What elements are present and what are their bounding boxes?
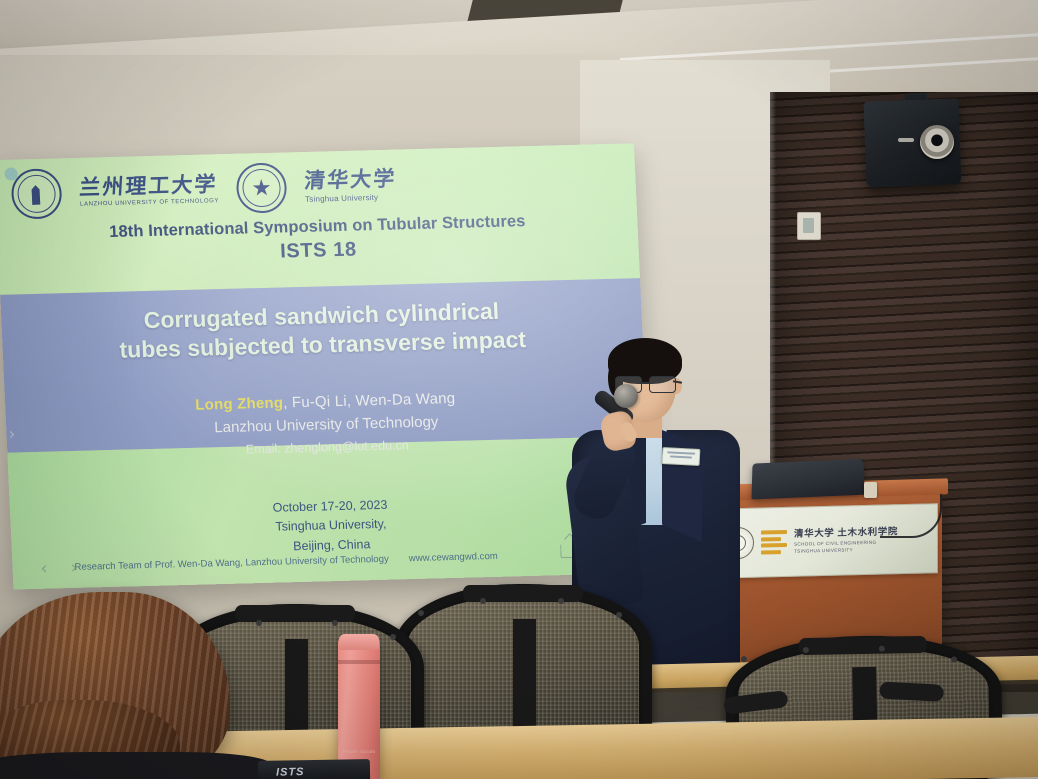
slide-nav-left-edge-icon[interactable]: ›	[8, 424, 16, 444]
lanzhou-chinese-name: 兰州理工大学	[79, 174, 219, 199]
device-on-table[interactable]: ISTS	[258, 759, 370, 779]
tsinghua-chinese-name: 清华大学	[304, 168, 397, 191]
thermos-label: Proper Goods	[342, 748, 376, 756]
conference-photo-scene: 兰州理工大学 LANZHOU UNIVERSITY OF TECHNOLOGY …	[0, 0, 1038, 779]
presenting-author-name: Long Zheng	[195, 394, 284, 413]
lanzhou-university-seal-icon	[10, 168, 62, 219]
thermos-seam-ring	[338, 660, 380, 664]
lanzhou-university-wordmark: 兰州理工大学 LANZHOU UNIVERSITY OF TECHNOLOGY	[79, 174, 219, 208]
plaque-decoration-bars	[761, 530, 787, 554]
slide-nav-next-secondary-icon[interactable]: ›	[70, 558, 78, 578]
laptop[interactable]	[751, 459, 864, 500]
lanzhou-english-name: LANZHOU UNIVERSITY OF TECHNOLOGY	[80, 198, 219, 208]
presentation-clicker[interactable]	[864, 482, 877, 498]
speaker-port-slot	[898, 138, 914, 142]
tsinghua-english-name: Tsinghua University	[305, 192, 397, 203]
microphone-icon	[614, 384, 638, 408]
plaque-english-line-2: TSINGHUA UNIVERSITY	[794, 546, 898, 554]
slide-logo-row: 兰州理工大学 LANZHOU UNIVERSITY OF TECHNOLOGY …	[10, 159, 397, 219]
speaker-cone-icon	[920, 125, 954, 159]
pink-thermos-bottle	[338, 636, 380, 779]
device-label: ISTS	[276, 766, 305, 778]
slide-nav-prev-secondary-icon[interactable]: ‹	[40, 559, 48, 579]
wall-switch[interactable]	[797, 212, 821, 240]
audience-member-shoulder	[0, 752, 270, 779]
projection-screen: 兰州理工大学 LANZHOU UNIVERSITY OF TECHNOLOGY …	[0, 143, 653, 589]
tsinghua-university-wordmark: 清华大学 Tsinghua University	[304, 168, 397, 203]
footer-website: www.cewangwd.com	[409, 551, 499, 564]
name-badge	[662, 447, 701, 466]
tsinghua-university-seal-icon	[235, 162, 287, 213]
thermos-cap	[339, 634, 379, 650]
